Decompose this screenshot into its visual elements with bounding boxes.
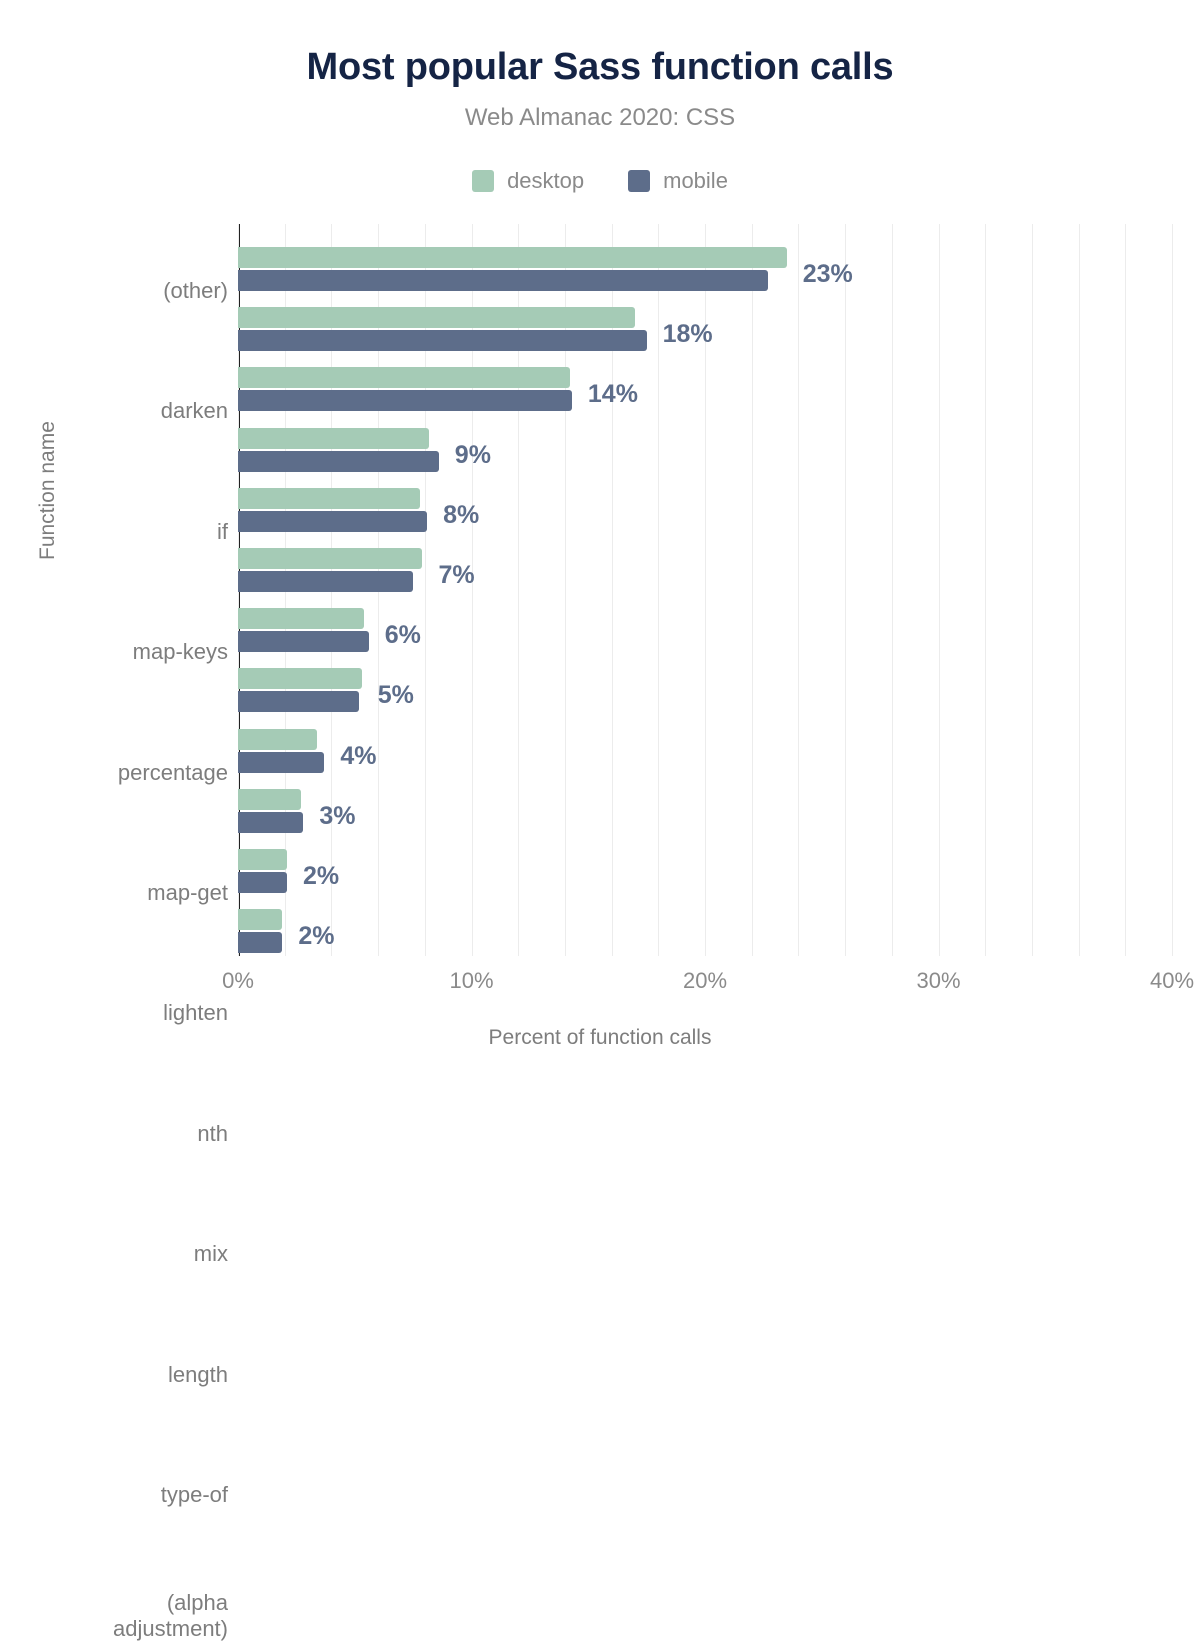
y-axis-tick: (other) xyxy=(0,278,228,304)
bar-desktop[interactable] xyxy=(238,548,422,569)
y-axis-tick-label: mix xyxy=(0,1241,228,1267)
bar-mobile[interactable] xyxy=(238,451,439,472)
bar-mobile[interactable] xyxy=(238,812,303,833)
chart-title: Most popular Sass function calls xyxy=(0,46,1200,89)
bar-row: 23%(other) xyxy=(238,247,1172,291)
bar-row: 3%length xyxy=(238,789,1172,833)
bar-desktop[interactable] xyxy=(238,247,787,268)
bar-desktop[interactable] xyxy=(238,307,635,328)
y-axis-tick: lighten xyxy=(0,1000,228,1026)
y-axis-tick: mix xyxy=(0,1241,228,1267)
bar-row: 14%if xyxy=(238,367,1172,411)
y-axis-tick-label: length xyxy=(0,1362,228,1388)
y-axis-tick: type-of xyxy=(0,1482,228,1508)
bar-row: 7%map-get xyxy=(238,548,1172,592)
bar-value-label: 8% xyxy=(443,501,479,530)
bar-value-label: 14% xyxy=(588,380,638,409)
legend-swatch-mobile xyxy=(628,170,650,192)
y-axis-tick: map-keys xyxy=(0,639,228,665)
bar-desktop[interactable] xyxy=(238,849,287,870)
y-axis-tick-label: map-get xyxy=(0,880,228,906)
y-axis-tick-label: if xyxy=(0,519,228,545)
bar-desktop[interactable] xyxy=(238,428,429,449)
bar-desktop[interactable] xyxy=(238,367,570,388)
legend-swatch-desktop xyxy=(472,170,494,192)
bar-row: 2%type-of xyxy=(238,849,1172,893)
legend-item-desktop[interactable]: desktop xyxy=(472,168,584,194)
legend-label-mobile: mobile xyxy=(663,168,728,194)
bar-row: 4%mix xyxy=(238,729,1172,773)
bar-desktop[interactable] xyxy=(238,729,317,750)
bar-mobile[interactable] xyxy=(238,511,427,532)
bar-desktop[interactable] xyxy=(238,608,364,629)
y-axis-tick: nth xyxy=(0,1121,228,1147)
gridline xyxy=(1172,224,1173,956)
bar-row: 18%darken xyxy=(238,307,1172,351)
legend-label-desktop: desktop xyxy=(507,168,584,194)
bar-row: 6%lighten xyxy=(238,608,1172,652)
y-axis-title: Function name xyxy=(36,421,60,560)
bar-value-label: 6% xyxy=(385,621,421,650)
bar-value-label: 23% xyxy=(803,260,853,289)
bar-mobile[interactable] xyxy=(238,270,768,291)
y-axis-tick-label: nth xyxy=(0,1121,228,1147)
bar-value-label: 4% xyxy=(340,742,376,771)
y-axis-tick-label: darken xyxy=(0,398,228,424)
bar-mobile[interactable] xyxy=(238,571,413,592)
x-axis-tick-label: 0% xyxy=(222,968,254,994)
bar-mobile[interactable] xyxy=(238,691,359,712)
y-axis-tick: if xyxy=(0,519,228,545)
bar-mobile[interactable] xyxy=(238,390,572,411)
bar-value-label: 9% xyxy=(455,441,491,470)
bar-value-label: 18% xyxy=(663,320,713,349)
bar-desktop[interactable] xyxy=(238,668,362,689)
bar-value-label: 7% xyxy=(438,561,474,590)
legend-item-mobile[interactable]: mobile xyxy=(628,168,728,194)
bar-value-label: 3% xyxy=(319,802,355,831)
x-axis-tick-label: 30% xyxy=(916,968,960,994)
bar-row: 2%(alpha adjustment) xyxy=(238,909,1172,953)
y-axis-tick: darken xyxy=(0,398,228,424)
bar-row: 8%percentage xyxy=(238,488,1172,532)
y-axis-tick: (alpha adjustment) xyxy=(0,1590,228,1642)
bar-row: 9%map-keys xyxy=(238,428,1172,472)
y-axis-tick-label: (other) xyxy=(0,278,228,304)
bar-value-label: 2% xyxy=(303,862,339,891)
bar-desktop[interactable] xyxy=(238,488,420,509)
bar-mobile[interactable] xyxy=(238,752,324,773)
y-axis-tick-label: type-of xyxy=(0,1482,228,1508)
bar-mobile[interactable] xyxy=(238,932,282,953)
bar-mobile[interactable] xyxy=(238,631,369,652)
plot-area: 23%(other)18%darken14%if9%map-keys8%perc… xyxy=(238,224,1172,956)
y-axis-tick-label: map-keys xyxy=(0,639,228,665)
y-axis-tick: map-get xyxy=(0,880,228,906)
bar-desktop[interactable] xyxy=(238,789,301,810)
x-axis-tick-label: 40% xyxy=(1150,968,1194,994)
chart-legend: desktop mobile xyxy=(0,168,1200,194)
y-axis-tick: length xyxy=(0,1362,228,1388)
bar-row: 5%nth xyxy=(238,668,1172,712)
bar-desktop[interactable] xyxy=(238,909,282,930)
x-axis-title: Percent of function calls xyxy=(0,1026,1200,1050)
bar-value-label: 5% xyxy=(378,681,414,710)
bar-mobile[interactable] xyxy=(238,330,647,351)
y-axis-tick-label: percentage xyxy=(0,760,228,786)
x-axis-tick-label: 10% xyxy=(449,968,493,994)
y-axis-tick-label: lighten xyxy=(0,1000,228,1026)
y-axis-tick-label: (alpha adjustment) xyxy=(0,1590,228,1642)
bar-mobile[interactable] xyxy=(238,872,287,893)
bar-value-label: 2% xyxy=(298,922,334,951)
y-axis-tick: percentage xyxy=(0,760,228,786)
chart-subtitle: Web Almanac 2020: CSS xyxy=(0,104,1200,132)
chart-container: Most popular Sass function calls Web Alm… xyxy=(0,0,1200,1104)
x-axis-tick-label: 20% xyxy=(683,968,727,994)
